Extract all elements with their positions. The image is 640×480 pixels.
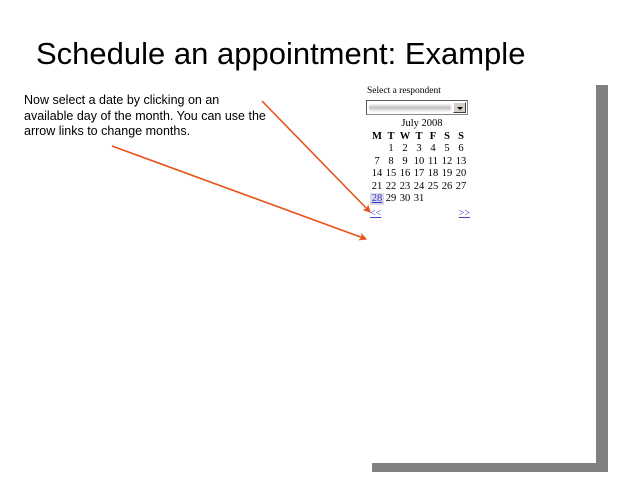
calendar-day-cell[interactable]: 16 <box>398 168 412 181</box>
calendar-empty-cell <box>454 193 468 206</box>
respondent-select[interactable] <box>366 100 468 115</box>
calendar-day-cell[interactable]: 29 <box>384 193 398 206</box>
calendar-widget: Select a respondent July 2008 M T W T F … <box>366 86 474 220</box>
calendar-empty-cell <box>426 193 440 206</box>
calendar-day-label: 26 <box>442 181 453 192</box>
calendar-day-label: 30 <box>400 193 411 204</box>
calendar-day-cell[interactable]: 15 <box>384 168 398 181</box>
weekday-header: W <box>398 130 412 143</box>
arrow-to-month-links <box>112 146 366 239</box>
calendar-day-cell[interactable]: 21 <box>370 180 384 193</box>
weekday-header: S <box>440 130 454 143</box>
calendar-day-label: 25 <box>428 181 439 192</box>
calendar-day-cell[interactable]: 24 <box>412 180 426 193</box>
calendar-day-cell[interactable]: 22 <box>384 180 398 193</box>
calendar-body: 1234567891011121314151617181920212223242… <box>370 143 468 206</box>
calendar-month-title: July 2008 <box>366 118 474 129</box>
frame-shadow-right <box>596 85 608 465</box>
weekday-header: S <box>454 130 468 143</box>
calendar-day-cell[interactable]: 28 <box>370 193 384 206</box>
respondent-select-value <box>369 103 451 112</box>
calendar-day-label: 1 <box>388 143 393 154</box>
calendar-day-label: 3 <box>416 143 421 154</box>
calendar-week-row: 14151617181920 <box>370 168 468 181</box>
calendar-day-label: 15 <box>386 168 397 179</box>
calendar-day-label: 7 <box>374 156 379 167</box>
calendar-day-label: 23 <box>400 181 411 192</box>
annotation-arrows <box>0 0 640 480</box>
calendar-day-cell[interactable]: 1 <box>384 143 398 156</box>
calendar-day-label: 10 <box>414 156 425 167</box>
weekday-header: F <box>426 130 440 143</box>
calendar-day-cell[interactable]: 12 <box>440 155 454 168</box>
calendar-day-label: 14 <box>372 168 383 179</box>
calendar-day-label: 4 <box>430 143 435 154</box>
calendar-day-cell[interactable]: 18 <box>426 168 440 181</box>
weekday-header: T <box>412 130 426 143</box>
calendar-day-label: 2 <box>402 143 407 154</box>
calendar-day-cell[interactable]: 26 <box>440 180 454 193</box>
calendar-empty-cell <box>440 193 454 206</box>
calendar-day-cell[interactable]: 10 <box>412 155 426 168</box>
slide-canvas: Schedule an appointment: Example Now sel… <box>0 0 640 480</box>
calendar-day-cell[interactable]: 2 <box>398 143 412 156</box>
frame-shadow-bottom <box>372 463 608 472</box>
calendar-day-label: 12 <box>442 156 453 167</box>
calendar-weekday-row: M T W T F S S <box>370 130 468 143</box>
calendar-day-label: 6 <box>458 143 463 154</box>
calendar-day-cell[interactable]: 31 <box>412 193 426 206</box>
calendar-day-label: 11 <box>428 156 438 167</box>
calendar-day-label: 5 <box>444 143 449 154</box>
weekday-header: T <box>384 130 398 143</box>
prev-month-link[interactable]: << <box>370 208 381 219</box>
calendar-day-cell[interactable]: 17 <box>412 168 426 181</box>
instruction-text: Now select a date by clicking on an avai… <box>24 93 269 140</box>
calendar-day-label: 27 <box>456 181 467 192</box>
calendar-day-label: 29 <box>386 193 397 204</box>
calendar-day-cell[interactable]: 8 <box>384 155 398 168</box>
calendar-week-row: 28293031 <box>370 193 468 206</box>
calendar-nav: << >> <box>370 208 470 220</box>
calendar-day-label: 17 <box>414 168 425 179</box>
calendar-day-cell[interactable]: 25 <box>426 180 440 193</box>
calendar-grid: M T W T F S S 12345678910111213141516171… <box>370 130 468 205</box>
calendar-day-cell[interactable]: 19 <box>440 168 454 181</box>
calendar-day-label: 22 <box>386 181 397 192</box>
calendar-day-cell[interactable]: 3 <box>412 143 426 156</box>
calendar-empty-cell <box>370 143 384 156</box>
calendar-day-label: 13 <box>456 156 467 167</box>
calendar-day-label: 20 <box>456 168 467 179</box>
calendar-day-cell[interactable]: 11 <box>426 155 440 168</box>
calendar-day-cell[interactable]: 27 <box>454 180 468 193</box>
calendar-day-cell[interactable]: 14 <box>370 168 384 181</box>
calendar-day-cell[interactable]: 4 <box>426 143 440 156</box>
next-month-link[interactable]: >> <box>459 208 470 219</box>
weekday-header: M <box>370 130 384 143</box>
calendar-day-label: 19 <box>442 168 453 179</box>
calendar-day-label: 16 <box>400 168 411 179</box>
calendar-day-label: 8 <box>388 156 393 167</box>
calendar-day-label: 18 <box>428 168 439 179</box>
calendar-day-cell[interactable]: 30 <box>398 193 412 206</box>
page-title: Schedule an appointment: Example <box>36 36 606 72</box>
calendar-day-cell[interactable]: 5 <box>440 143 454 156</box>
calendar-week-row: 21222324252627 <box>370 180 468 193</box>
calendar-day-label: 24 <box>414 181 425 192</box>
calendar-day-cell[interactable]: 20 <box>454 168 468 181</box>
calendar-day-label: 21 <box>372 181 383 192</box>
calendar-day-cell[interactable]: 13 <box>454 155 468 168</box>
calendar-day-cell[interactable]: 23 <box>398 180 412 193</box>
arrow-to-selected-day <box>262 101 370 212</box>
calendar-day-cell[interactable]: 6 <box>454 143 468 156</box>
respondent-label: Select a respondent <box>367 86 474 96</box>
calendar-week-row: 123456 <box>370 143 468 156</box>
calendar-day-cell[interactable]: 9 <box>398 155 412 168</box>
calendar-day-label: 9 <box>402 156 407 167</box>
chevron-down-icon[interactable] <box>453 102 466 113</box>
calendar-day-label: 28 <box>372 193 383 204</box>
calendar-week-row: 78910111213 <box>370 155 468 168</box>
calendar-day-label: 31 <box>414 193 425 204</box>
calendar-day-cell[interactable]: 7 <box>370 155 384 168</box>
